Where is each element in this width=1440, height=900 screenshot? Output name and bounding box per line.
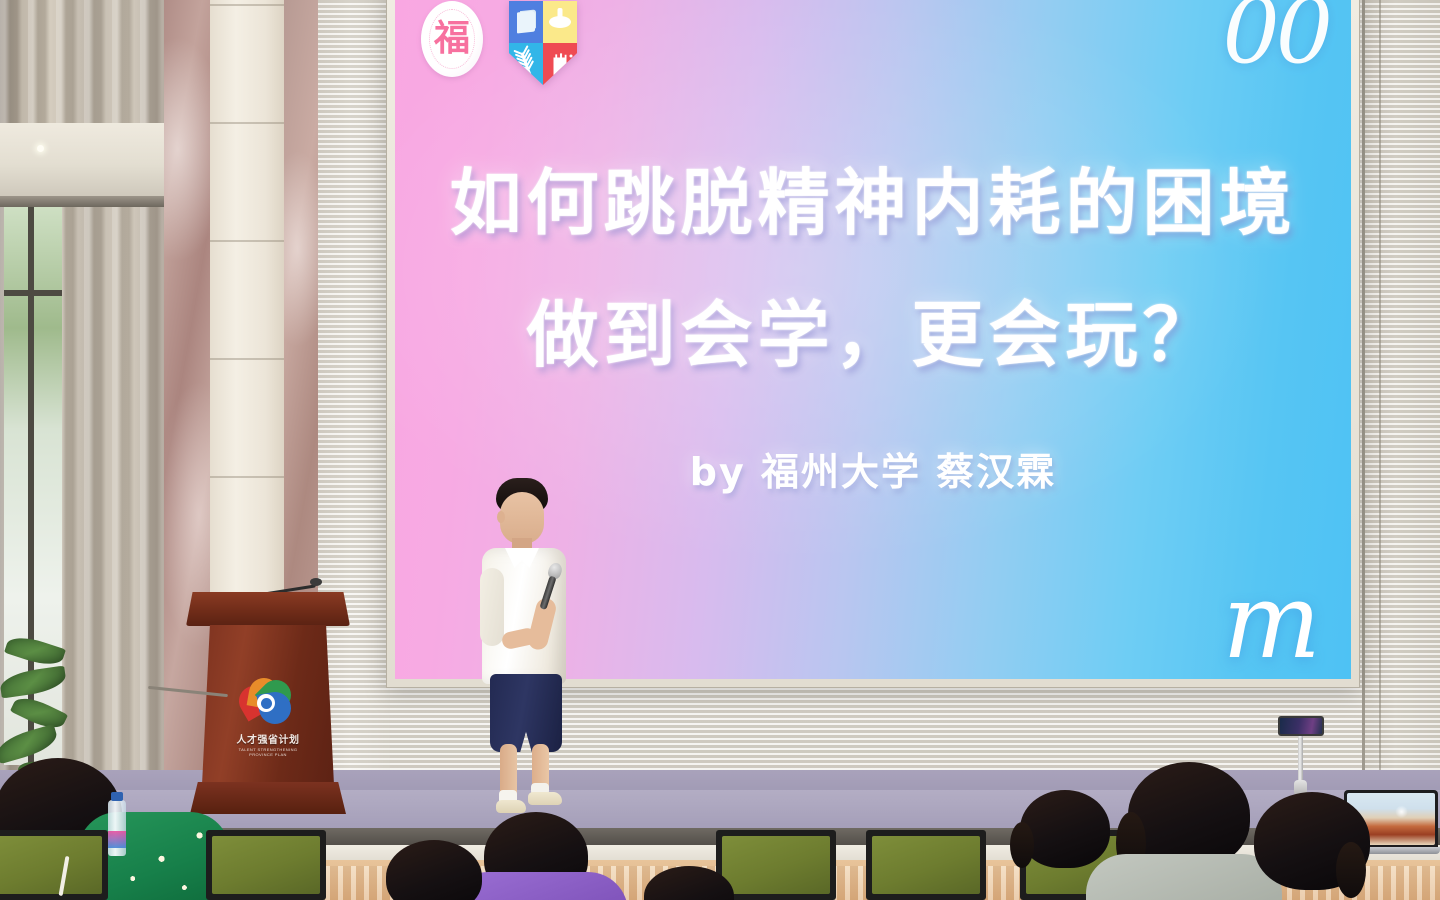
bottle-cap <box>111 792 123 801</box>
lecture-hall-scene: 福 <box>0 0 1440 900</box>
presenter-arm-left <box>480 568 504 646</box>
chair <box>716 830 836 900</box>
badge-ring <box>429 9 475 69</box>
slide-title-line-2: 做到会学，更会玩？ <box>395 297 1351 375</box>
slide-corner-mark-top: 00 <box>1222 0 1329 84</box>
fu-character-badge-icon: 福 <box>421 1 483 77</box>
audience-head <box>1128 762 1250 868</box>
bottle-label <box>108 831 126 848</box>
audience-head <box>1020 790 1110 868</box>
audience-ponytail <box>1010 822 1034 868</box>
presenter-shorts <box>490 674 562 752</box>
presenter-head <box>500 492 544 544</box>
slide-text-block: 如何跳脱精神内耗的困境 做到会学，更会玩？ by 福州大学 蔡汉霖 <box>395 165 1351 496</box>
chair <box>206 830 326 900</box>
slide-corner-mark-bottom: m <box>1222 569 1321 673</box>
slide-logo-row: 福 <box>421 1 577 85</box>
podium-top <box>186 592 350 626</box>
swirl-logo-icon <box>237 674 299 728</box>
water-bottle <box>108 800 126 856</box>
presenter-ear <box>497 511 505 523</box>
presenter-shoe-left <box>496 800 526 813</box>
podium: 人才强省计划 TALENT STRENGTHENING PROVINCE PLA… <box>186 592 350 817</box>
audience-ponytail <box>1336 842 1366 898</box>
chair <box>0 830 108 900</box>
window-mullion-horizontal <box>4 290 62 296</box>
slide-title-line-1: 如何跳脱精神内耗的困境 <box>395 165 1351 243</box>
ceiling-spotlight <box>37 145 44 152</box>
podium-base <box>190 782 346 814</box>
shield-quadrant-book <box>509 1 543 43</box>
gimbal-stem <box>1298 736 1303 784</box>
phone-screen <box>1278 716 1324 736</box>
audience-shoulders <box>1086 854 1282 900</box>
presenter-shoe-right <box>528 792 562 805</box>
podium-logo-subtext: TALENT STRENGTHENING PROVINCE PLAN <box>229 747 307 757</box>
shield-quadrant-fern <box>509 43 543 85</box>
podium-logo-text: 人才强省计划 <box>229 731 307 746</box>
textured-wall-right <box>1362 0 1440 770</box>
podium-logo: 人才强省计划 TALENT STRENGTHENING PROVINCE PLA… <box>229 674 307 757</box>
presenter <box>472 478 598 808</box>
shield-quadrant-tower <box>543 43 577 85</box>
shield-quadrant-lamp <box>543 1 577 43</box>
chair <box>866 830 986 900</box>
four-quadrant-shield-icon <box>509 1 577 85</box>
